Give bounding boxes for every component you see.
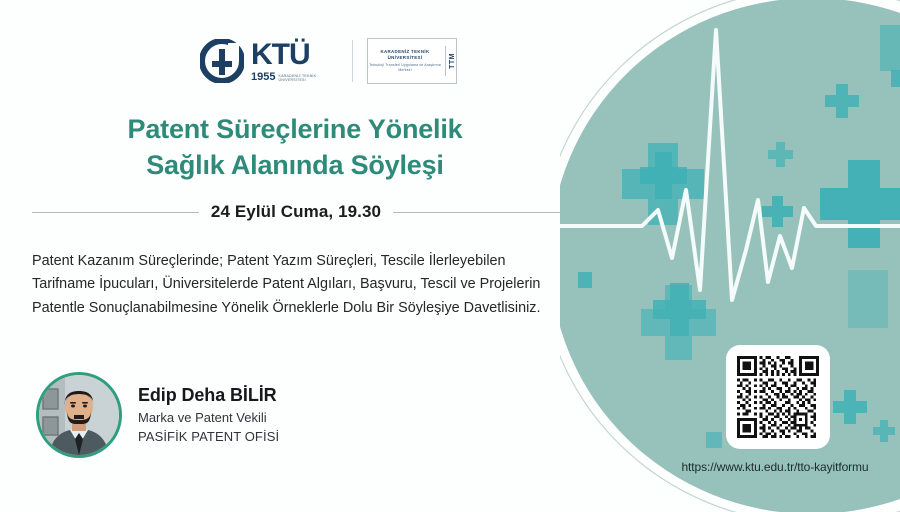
qr-code-block[interactable]: [726, 345, 830, 449]
ktu-logo: KTÜ 1955 KARADENİZ TEKNİK ÜNİVERSİTESİ: [200, 39, 338, 83]
date-rule-left: [32, 212, 199, 213]
qr-code-icon[interactable]: [737, 356, 819, 438]
speaker-organization: PASİFİK PATENT OFİSİ: [138, 427, 279, 447]
ktu-subline: 1955 KARADENİZ TEKNİK ÜNİVERSİTESİ: [251, 72, 338, 83]
ttm-center-line: Teknoloji Transferi Uygulama ve Araştırm…: [368, 63, 441, 74]
speaker-role: Marka ve Patent Vekili: [138, 408, 279, 428]
ktu-wordblock: KTÜ 1955 KARADENİZ TEKNİK ÜNİVERSİTESİ: [251, 40, 338, 83]
title-line-1: Patent Süreçlerine Yönelik: [20, 112, 570, 148]
ttm-logo-box: KARADENİZ TEKNİK ÜNİVERSİTESİ Teknoloji …: [367, 38, 457, 84]
ttm-vertical-label: TTM: [449, 53, 456, 69]
event-poster: KTÜ 1955 KARADENİZ TEKNİK ÜNİVERSİTESİ K…: [0, 0, 900, 512]
speaker-name: Edip Deha BİLİR: [138, 383, 279, 407]
ktu-emblem-icon: [200, 39, 244, 83]
logo-divider: [352, 40, 353, 82]
event-description: Patent Kazanım Süreçlerinde; Patent Yazı…: [32, 250, 544, 320]
event-date-text: 24 Eylül Cuma, 19.30: [211, 202, 381, 222]
ktu-founding-year: 1955: [251, 72, 275, 83]
event-date-row: 24 Eylül Cuma, 19.30: [32, 202, 560, 222]
avatar: [36, 372, 122, 458]
ktu-university-name: KARADENİZ TEKNİK ÜNİVERSİTESİ: [278, 74, 338, 83]
speaker-info: Edip Deha BİLİR Marka ve Patent Vekili P…: [138, 383, 279, 446]
date-rule-right: [393, 212, 560, 213]
ktu-wordmark: KTÜ: [251, 40, 310, 70]
ttm-text-block: KARADENİZ TEKNİK ÜNİVERSİTESİ Teknoloji …: [368, 49, 441, 73]
ttm-university-line: KARADENİZ TEKNİK ÜNİVERSİTESİ: [368, 49, 441, 62]
ttm-vertical-wrap: TTM: [445, 46, 456, 76]
registration-url[interactable]: https://www.ktu.edu.tr/tto-kayitformu: [650, 460, 900, 474]
page-title: Patent Süreçlerine Yönelik Sağlık Alanın…: [20, 112, 570, 183]
speaker-photo: [39, 375, 119, 455]
speaker-block: Edip Deha BİLİR Marka ve Patent Vekili P…: [36, 372, 279, 458]
title-line-2: Sağlık Alanında Söyleşi: [20, 148, 570, 184]
logo-row: KTÜ 1955 KARADENİZ TEKNİK ÜNİVERSİTESİ K…: [200, 38, 457, 84]
